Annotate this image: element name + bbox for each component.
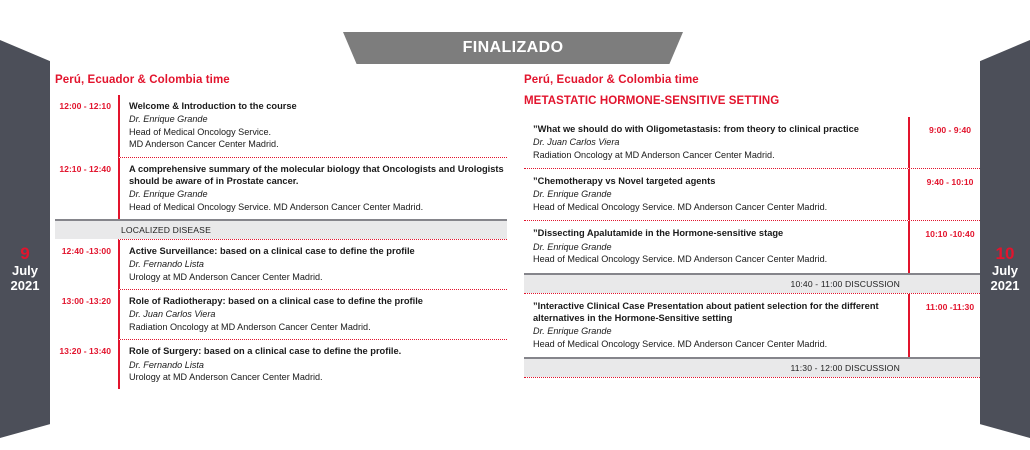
agenda-row: 12:40 -13:00 Active Surveillance: based … [55,240,507,289]
discussion-band-2: 11:30 - 12:00 DISCUSSION [524,357,980,377]
session-title: Role of Radiotherapy: based on a clinica… [129,295,507,307]
session-speaker: Dr. Enrique Grande [533,241,898,254]
session-time: 9:00 - 9:40 [908,123,980,135]
session-title: ”Dissecting Apalutamide in the Hormone-s… [533,227,898,239]
agenda-column-day1: Perú, Ecuador & Colombia time 12:00 - 12… [55,74,507,389]
session-time: 11:00 -11:30 [908,300,980,312]
session-affiliation: Head of Medical Oncology Service. MD And… [533,201,898,213]
session-speaker: Dr. Fernando Lista [129,258,507,271]
session-time: 12:40 -13:00 [55,245,118,256]
agenda-row: 13:00 -13:20 Role of Radiotherapy: based… [55,290,507,339]
agenda-row: ”Chemotherapy vs Novel targeted agents D… [524,169,980,220]
session-affiliation: Urology at MD Anderson Cancer Center Mad… [129,271,507,283]
discussion-band-1: 10:40 - 11:00 DISCUSSION [524,273,980,293]
session-title: ”Chemotherapy vs Novel targeted agents [533,175,898,187]
session-title: Role of Surgery: based on a clinical cas… [129,345,507,357]
row-rule [908,117,910,168]
agenda-row: 12:00 - 12:10 Welcome & Introduction to … [55,95,507,157]
row-rule [118,290,120,339]
timezone-heading-left: Perú, Ecuador & Colombia time [55,74,507,86]
session-body: ”Chemotherapy vs Novel targeted agents D… [524,175,908,213]
session-time: 12:10 - 12:40 [55,163,118,174]
session-speaker: Dr. Juan Carlos Viera [533,136,898,149]
session-time: 13:20 - 13:40 [55,345,118,356]
section-band-localized-disease: LOCALIZED DISEASE [55,219,507,239]
session-title: ”What we should do with Oligometastasis:… [533,123,898,135]
session-body: ”Interactive Clinical Case Presentation … [524,300,908,350]
session-affiliation: Head of Medical Oncology Service. [129,126,507,138]
row-rule [118,240,120,289]
session-body: Role of Radiotherapy: based on a clinica… [118,295,507,333]
session-body: ”What we should do with Oligometastasis:… [524,123,908,161]
session-body: Role of Surgery: based on a clinical cas… [118,345,507,383]
session-speaker: Dr. Enrique Grande [129,113,507,126]
session-speaker: Dr. Fernando Lista [129,359,507,372]
session-body: ”Dissecting Apalutamide in the Hormone-s… [524,227,908,265]
session-title: A comprehensive summary of the molecular… [129,163,507,188]
session-affiliation: Radiation Oncology at MD Anderson Cancer… [533,149,898,161]
agenda-container: Perú, Ecuador & Colombia time 12:00 - 12… [0,0,1030,450]
row-rule [118,95,120,157]
session-title: Welcome & Introduction to the course [129,100,507,112]
session-speaker: Dr. Enrique Grande [533,325,898,338]
session-speaker: Dr. Enrique Grande [533,188,898,201]
session-time: 10:10 -10:40 [908,227,980,239]
row-rule [908,221,910,272]
session-affiliation: Head of Medical Oncology Service. MD And… [533,338,898,350]
session-body: A comprehensive summary of the molecular… [118,163,507,213]
session-affiliation: Head of Medical Oncology Service. MD And… [533,253,898,265]
session-time: 9:40 - 10:10 [908,175,980,187]
row-rule [118,158,120,219]
session-affiliation: Radiation Oncology at MD Anderson Cancer… [129,321,507,333]
session-affiliation: Urology at MD Anderson Cancer Center Mad… [129,371,507,383]
row-rule [908,169,910,220]
row-rule [908,294,910,357]
agenda-row: ”Interactive Clinical Case Presentation … [524,294,980,357]
session-speaker: Dr. Juan Carlos Viera [129,308,507,321]
agenda-column-day2: Perú, Ecuador & Colombia time METASTATIC… [524,74,980,378]
row-separator [524,377,980,378]
session-time: 13:00 -13:20 [55,295,118,306]
session-time: 12:00 - 12:10 [55,100,118,111]
agenda-row: 12:10 - 12:40 A comprehensive summary of… [55,158,507,219]
session-body: Active Surveillance: based on a clinical… [118,245,507,283]
agenda-row: 13:20 - 13:40 Role of Surgery: based on … [55,340,507,389]
session-body: Welcome & Introduction to the course Dr.… [118,100,507,151]
section-heading-metastatic: METASTATIC HORMONE-SENSITIVE SETTING [524,95,980,107]
row-rule [118,340,120,389]
session-affiliation: MD Anderson Cancer Center Madrid. [129,138,507,150]
session-affiliation: Head of Medical Oncology Service. MD And… [129,201,507,213]
session-title: Active Surveillance: based on a clinical… [129,245,507,257]
session-speaker: Dr. Enrique Grande [129,188,507,201]
timezone-heading-right: Perú, Ecuador & Colombia time [524,74,980,86]
agenda-row: ”Dissecting Apalutamide in the Hormone-s… [524,221,980,272]
session-title: ”Interactive Clinical Case Presentation … [533,300,898,325]
agenda-row: ”What we should do with Oligometastasis:… [524,117,980,168]
